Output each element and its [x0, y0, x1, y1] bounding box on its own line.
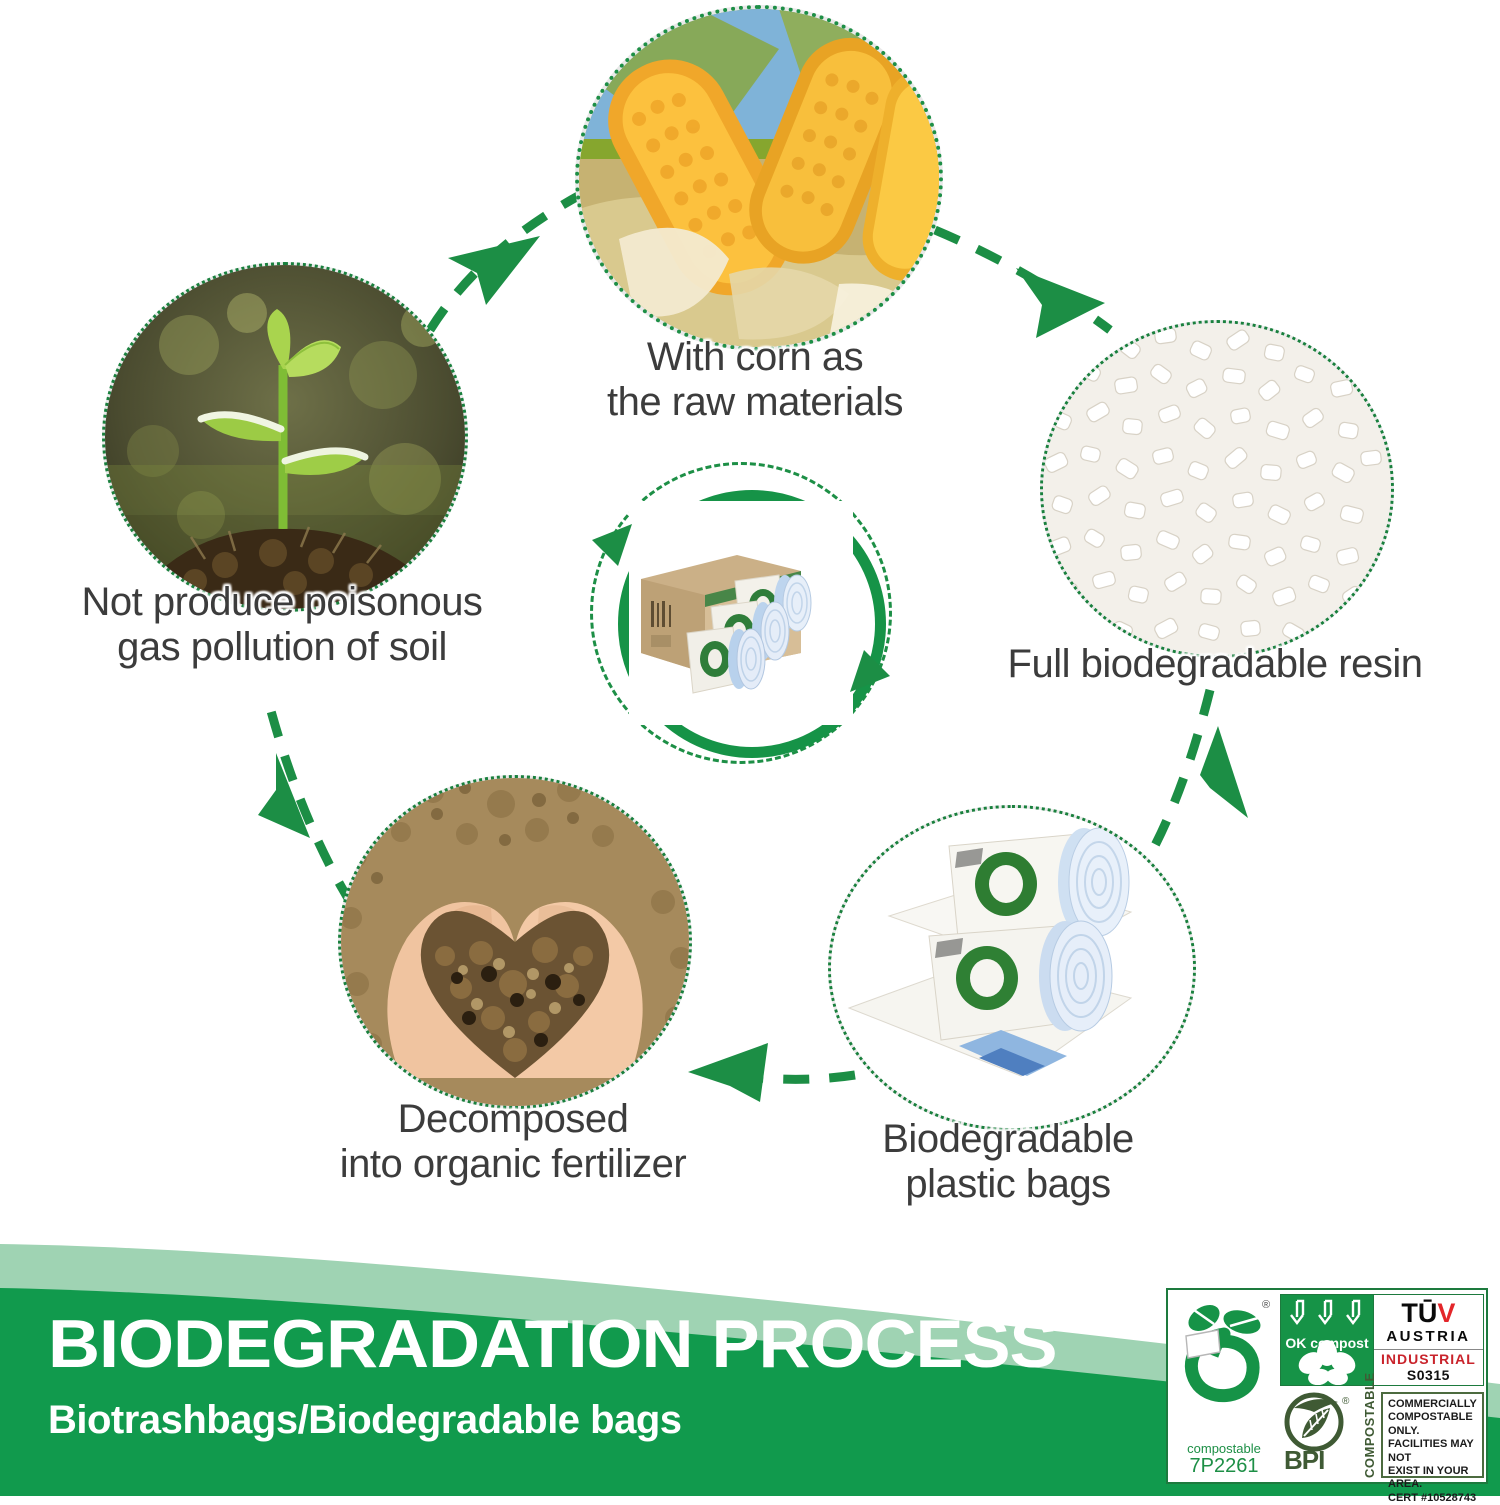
- seedling-in-soil-photo: [102, 262, 468, 612]
- tuv-grade-block: INDUSTRIAL S0315: [1374, 1349, 1483, 1385]
- arrow-head-soil-to-corn: [448, 236, 540, 305]
- tuv-letter-v: V: [1437, 1298, 1455, 1328]
- bpi-note-line-1: COMPOSTABLE ONLY.: [1388, 1411, 1477, 1438]
- page-title: BIODEGRADATION PROCESS: [48, 1310, 1057, 1378]
- ok-compost-tuv-row: OK compost TŪV AUSTRIA INDUSTRIAL S0315: [1280, 1294, 1484, 1386]
- bpi-note-line-4: CERT #10528743: [1388, 1492, 1477, 1505]
- ok-compost-label: OK compost: [1281, 1335, 1373, 1351]
- bpi-note-line-0: COMMERCIALLY: [1388, 1398, 1477, 1411]
- cycle-node-bags-caption: Biodegradable plastic bags: [723, 1117, 1293, 1207]
- bpi-note-line-2: FACILITIES MAY NOT: [1388, 1438, 1477, 1465]
- arrow-arc-corn-to-resin: [935, 230, 1110, 330]
- cycle-node-resin-caption: Full biodegradable resin: [930, 642, 1500, 687]
- tuv-wordmark: TŪV: [1401, 1300, 1455, 1327]
- center-arrow-head-left: [592, 524, 632, 566]
- infographic-canvas: .arc{fill:none;stroke:#1C8E45;stroke-wid…: [0, 0, 1500, 1496]
- center-ring-arrowheads: [590, 462, 892, 764]
- caption-line-1: Biodegradable: [882, 1117, 1134, 1161]
- tuv-name-block: TŪV AUSTRIA: [1374, 1295, 1483, 1349]
- seedling-number: 7P2261: [1168, 1455, 1280, 1478]
- cycle-node-soil-caption: Not produce poisonous gas pollution of s…: [22, 580, 542, 670]
- ok-compost-badge: OK compost: [1281, 1295, 1373, 1385]
- caption-line-1: Decomposed: [398, 1097, 629, 1141]
- caption-line-2: the raw materials: [607, 380, 903, 424]
- tuv-letter-u: Ū: [1418, 1298, 1438, 1328]
- corn-cobs-photo: [575, 5, 943, 351]
- arrow-head-bags-to-compost: [688, 1043, 768, 1102]
- hands-holding-soil-photo: [338, 775, 692, 1109]
- arrow-head-corn-to-resin: [1016, 268, 1105, 338]
- tuv-code: S0315: [1374, 1367, 1483, 1383]
- caption-line-1: With corn as: [647, 335, 863, 379]
- svg-text:®: ®: [1342, 1396, 1350, 1407]
- cycle-node-compost-caption: Decomposed into organic fertilizer: [223, 1097, 803, 1187]
- caption-line-2: gas pollution of soil: [117, 625, 447, 669]
- seedling-certification: ® compostable 7P2261: [1168, 1290, 1280, 1482]
- center-arrow-head-right: [850, 650, 890, 692]
- caption-line-1: Full biodegradable resin: [1008, 642, 1423, 686]
- bpi-logo: ® BPI: [1280, 1392, 1364, 1478]
- certification-right-column: OK compost TŪV AUSTRIA INDUSTRIAL S0315: [1280, 1290, 1488, 1482]
- tuv-grade: INDUSTRIAL: [1374, 1351, 1483, 1367]
- seedling-label: compostable: [1168, 1441, 1280, 1456]
- bag-rolls-photo: [828, 805, 1196, 1131]
- cycle-node-corn-caption: With corn as the raw materials: [455, 335, 1055, 425]
- banner-text-block: BIODEGRADATION PROCESS Biotrashbags/Biod…: [48, 1310, 999, 1443]
- tuv-austria-badge: TŪV AUSTRIA INDUSTRIAL S0315: [1373, 1295, 1483, 1385]
- seedling-logo-icon: ®: [1174, 1296, 1274, 1414]
- tuv-country: AUSTRIA: [1386, 1328, 1470, 1345]
- bpi-disclaimer: COMMERCIALLY COMPOSTABLE ONLY. FACILITIE…: [1381, 1392, 1484, 1478]
- tuv-letter-t: T: [1401, 1298, 1418, 1328]
- arrow-head-resin-to-bags: [1200, 726, 1248, 818]
- caption-line-2: into organic fertilizer: [340, 1142, 686, 1186]
- bpi-note-line-3: EXIST IN YOUR AREA.: [1388, 1465, 1477, 1492]
- svg-text:®: ®: [1262, 1299, 1270, 1311]
- bpi-acronym: BPI: [1284, 1445, 1324, 1476]
- bpi-compostable-vertical: COMPOSTABLE: [1362, 1392, 1377, 1478]
- certification-block: ® compostable 7P2261: [1166, 1288, 1488, 1484]
- caption-line-1: Not produce poisonous: [82, 580, 483, 624]
- bpi-row: ® BPI COMPOSTABLE COMMERCIALLY COMPOSTAB…: [1280, 1392, 1484, 1478]
- page-subtitle: Biotrashbags/Biodegradable bags: [48, 1398, 999, 1443]
- white-resin-pellets-photo: [1040, 320, 1394, 658]
- center-emblem: Bio: [590, 462, 892, 764]
